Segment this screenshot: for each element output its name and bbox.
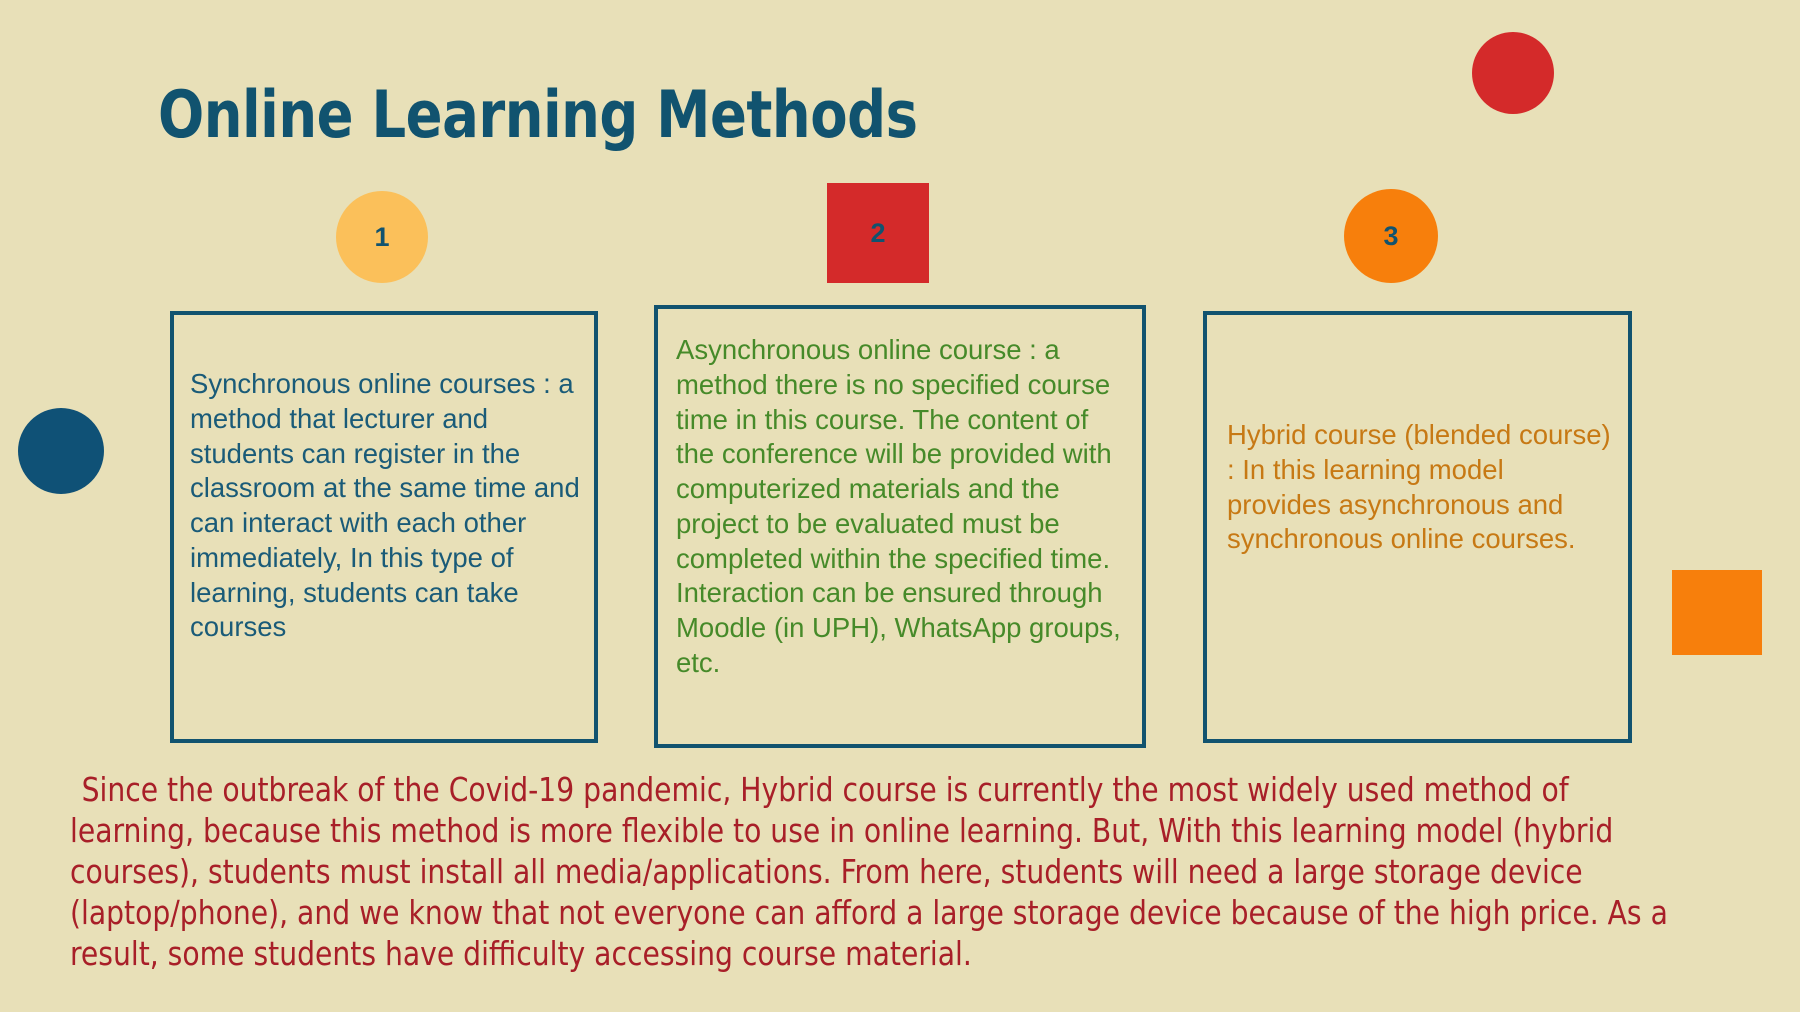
method-card-asynchronous-text: Asynchronous online course : a method th… [676,333,1128,681]
orange-square-icon [1672,570,1762,655]
step-badge-3-label: 3 [1383,221,1398,252]
slide-canvas: Online Learning Methods 1 2 3 Synchronou… [0,0,1800,1012]
method-card-asynchronous: Asynchronous online course : a method th… [654,305,1146,748]
step-badge-2: 2 [827,183,929,283]
step-badge-3: 3 [1344,189,1438,283]
method-card-hybrid-text: Hybrid course (blended course) : In this… [1227,418,1614,557]
method-card-synchronous-text: Synchronous online courses : a method th… [190,367,580,645]
step-badge-1: 1 [336,191,428,283]
step-badge-1-label: 1 [374,222,389,253]
red-circle-icon [1472,32,1554,114]
step-badge-2-label: 2 [870,218,885,249]
method-card-hybrid: Hybrid course (blended course) : In this… [1203,311,1632,743]
blue-circle-icon [18,408,104,494]
method-card-synchronous: Synchronous online courses : a method th… [170,311,598,743]
summary-paragraph: Since the outbreak of the Covid-19 pande… [70,770,1701,975]
page-title: Online Learning Methods [158,78,917,153]
